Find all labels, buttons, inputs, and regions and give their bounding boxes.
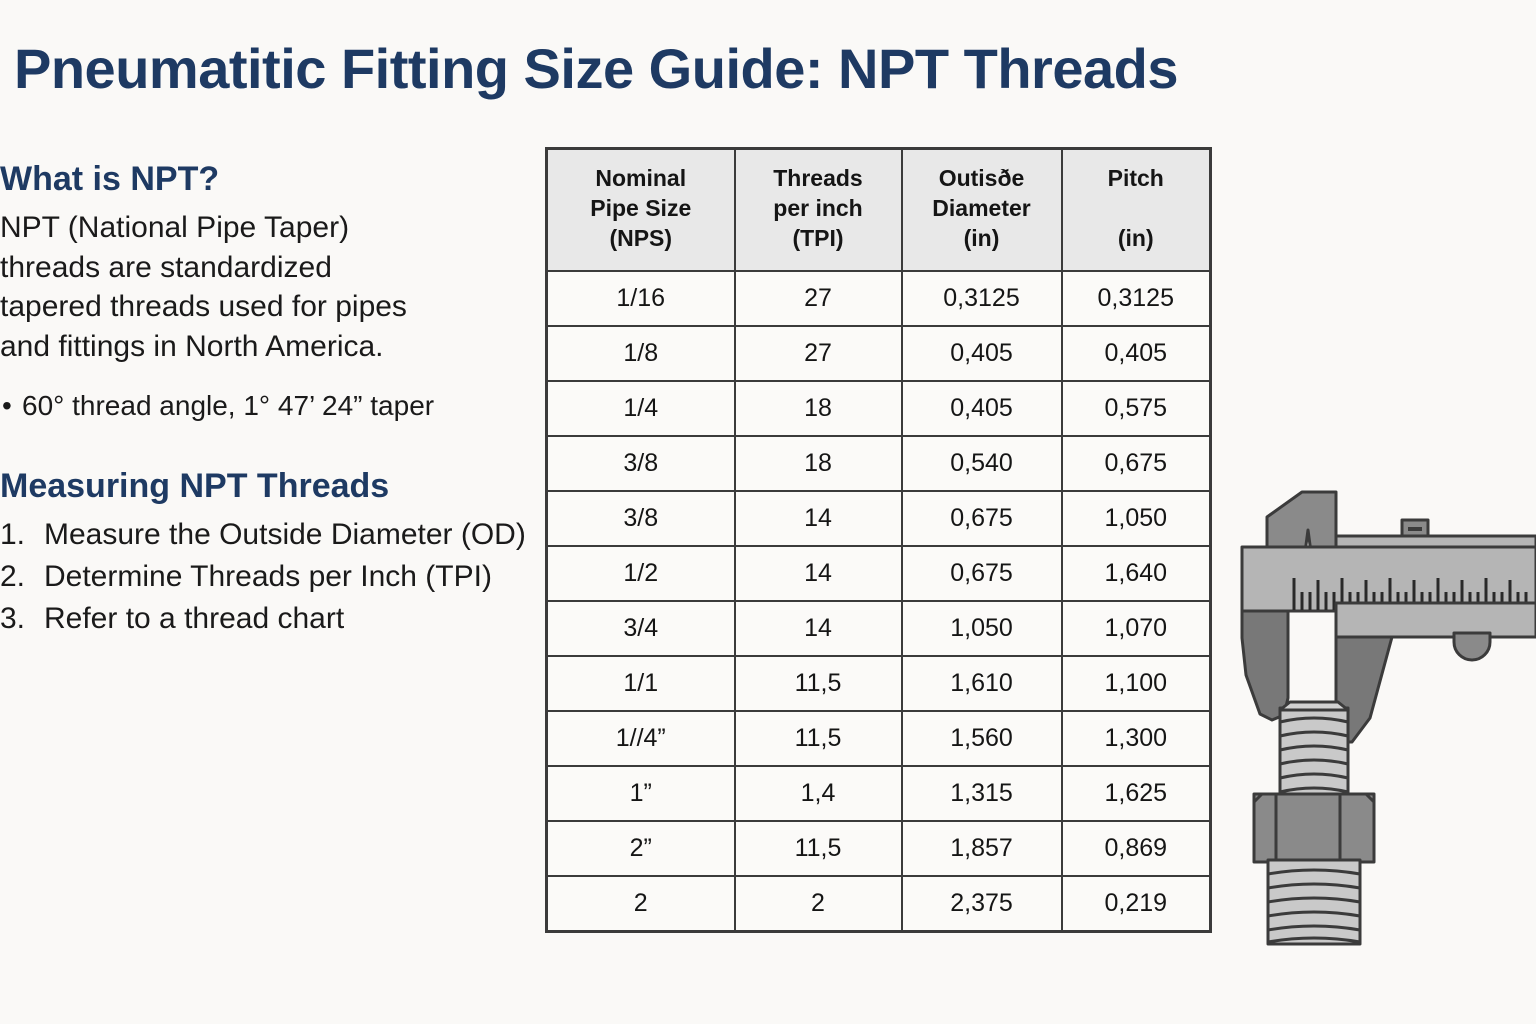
table-cell: 0,575 [1062, 381, 1211, 436]
measuring-section: Measuring NPT Threads 1. Measure the Out… [0, 467, 545, 640]
table-cell: 18 [735, 436, 902, 491]
table-cell: 1” [547, 766, 735, 821]
caliper-illustration [1232, 470, 1536, 950]
step-number: 2. [0, 557, 25, 597]
table-cell: 14 [735, 491, 902, 546]
table-cell: 1,560 [902, 711, 1062, 766]
table-cell: 2,375 [902, 876, 1062, 932]
table-cell: 1,640 [1062, 546, 1211, 601]
caliper-lower-jaw-left [1242, 611, 1288, 720]
step-number: 3. [0, 599, 25, 639]
table-row: 3/8140,6751,050 [547, 491, 1211, 546]
table-cell: 1/1 [547, 656, 735, 711]
table-row: 1”1,41,3151,625 [547, 766, 1211, 821]
table-row: 1/16270,31250,3125 [547, 271, 1211, 326]
table-body: 1/16270,31250,31251/8270,4050,4051/4180,… [547, 271, 1211, 932]
table-cell: 1/2 [547, 546, 735, 601]
page-title: Pneumatitic Fitting Size Guide: NPT Thre… [14, 36, 1178, 101]
header-line: (in) [1067, 224, 1206, 254]
column-header-pitch: Pitch (in) [1062, 149, 1211, 271]
table-cell: 3/8 [547, 491, 735, 546]
column-header-nps: Nominal Pipe Size (NPS) [547, 149, 735, 271]
table-cell: 1,625 [1062, 766, 1211, 821]
step-number: 1. [0, 515, 25, 555]
table-row: 3/8180,5400,675 [547, 436, 1211, 491]
caliper-lock-slot [1408, 527, 1422, 531]
table-row: 1/4180,4050,575 [547, 381, 1211, 436]
table-cell: 1//4” [547, 711, 735, 766]
what-is-npt-paragraph: NPT (National Pipe Taper) threads are st… [0, 208, 440, 366]
column-header-outside-diameter: Outisðe Diameter (in) [902, 149, 1062, 271]
header-line [1067, 194, 1206, 224]
table-cell: 0,3125 [1062, 271, 1211, 326]
table-cell: 27 [735, 271, 902, 326]
header-line: Outisðe [907, 164, 1057, 194]
header-line: Threads [740, 164, 897, 194]
threaded-bolt-upper-shank [1280, 708, 1348, 800]
step-text: Refer to a thread chart [44, 602, 344, 635]
npt-table: Nominal Pipe Size (NPS) Threads per inch… [545, 147, 1212, 933]
table-cell: 1/16 [547, 271, 735, 326]
header-line: (in) [907, 224, 1057, 254]
table-cell: 11,5 [735, 711, 902, 766]
table-cell: 1,610 [902, 656, 1062, 711]
table-cell: 0,219 [1062, 876, 1211, 932]
table-cell: 0,675 [902, 491, 1062, 546]
table-cell: 0,540 [902, 436, 1062, 491]
table-cell: 1,857 [902, 821, 1062, 876]
bullet-dot-icon: • [2, 388, 12, 424]
list-item: 3. Refer to a thread chart [0, 599, 544, 639]
table-cell: 3/8 [547, 436, 735, 491]
table-cell: 1,100 [1062, 656, 1211, 711]
table-cell: 0,405 [902, 326, 1062, 381]
table-cell: 0,675 [902, 546, 1062, 601]
left-content-column: What is NPT? NPT (National Pipe Taper) t… [0, 160, 545, 641]
header-line: Nominal [552, 164, 730, 194]
caliper-vernier-rail [1336, 603, 1536, 637]
step-text: Measure the Outside Diameter (OD) [44, 518, 526, 551]
list-item: 2. Determine Threads per Inch (TPI) [0, 557, 544, 597]
hex-nut [1254, 794, 1374, 862]
table-cell: 2 [547, 876, 735, 932]
table-cell: 18 [735, 381, 902, 436]
column-header-tpi: Threads per inch (TPI) [735, 149, 902, 271]
table-cell: 0,869 [1062, 821, 1211, 876]
table-cell: 1,070 [1062, 601, 1211, 656]
table-row: 222,3750,219 [547, 876, 1211, 932]
list-item: • 60° thread angle, 1° 47’ 24” taper [0, 388, 545, 424]
header-line: (TPI) [740, 224, 897, 254]
npt-thread-chart: Nominal Pipe Size (NPS) Threads per inch… [545, 147, 1209, 933]
header-line: Diameter [907, 194, 1057, 224]
table-cell: 11,5 [735, 821, 902, 876]
table-cell: 1,050 [902, 601, 1062, 656]
table-cell: 1,315 [902, 766, 1062, 821]
table-row: 1/111,51,6101,100 [547, 656, 1211, 711]
bolt-chamfer-top [1280, 702, 1348, 710]
table-cell: 14 [735, 601, 902, 656]
table-cell: 27 [735, 326, 902, 381]
table-row: 1/8270,4050,405 [547, 326, 1211, 381]
table-cell: 0,3125 [902, 271, 1062, 326]
header-line: Pipe Size [552, 194, 730, 224]
measuring-npt-threads-heading: Measuring NPT Threads [0, 467, 545, 505]
table-row: 3/4141,0501,070 [547, 601, 1211, 656]
header-line: Pitch [1067, 164, 1206, 194]
table-cell: 0,405 [902, 381, 1062, 436]
table-cell: 1/4 [547, 381, 735, 436]
table-cell: 1/8 [547, 326, 735, 381]
table-header-row: Nominal Pipe Size (NPS) Threads per inch… [547, 149, 1211, 271]
table-cell: 3/4 [547, 601, 735, 656]
bullet-text: 60° thread angle, 1° 47’ 24” taper [22, 390, 434, 421]
table-row: 1/2140,6751,640 [547, 546, 1211, 601]
step-text: Determine Threads per Inch (TPI) [44, 560, 492, 593]
table-cell: 0,675 [1062, 436, 1211, 491]
table-cell: 1,4 [735, 766, 902, 821]
caliper-depth-stop [1454, 633, 1490, 660]
table-row: 1//4”11,51,5601,300 [547, 711, 1211, 766]
list-item: 1. Measure the Outside Diameter (OD) [0, 515, 544, 555]
table-row: 2”11,51,8570,869 [547, 821, 1211, 876]
table-cell: 1,300 [1062, 711, 1211, 766]
table-cell: 1,050 [1062, 491, 1211, 546]
table-cell: 11,5 [735, 656, 902, 711]
what-is-npt-heading: What is NPT? [0, 160, 545, 198]
header-line: per inch [740, 194, 897, 224]
table-cell: 0,405 [1062, 326, 1211, 381]
header-line: (NPS) [552, 224, 730, 254]
table-cell: 2” [547, 821, 735, 876]
npt-facts-list: • 60° thread angle, 1° 47’ 24” taper [0, 388, 545, 424]
measuring-steps-list: 1. Measure the Outside Diameter (OD) 2. … [0, 515, 545, 640]
table-cell: 14 [735, 546, 902, 601]
table-cell: 2 [735, 876, 902, 932]
